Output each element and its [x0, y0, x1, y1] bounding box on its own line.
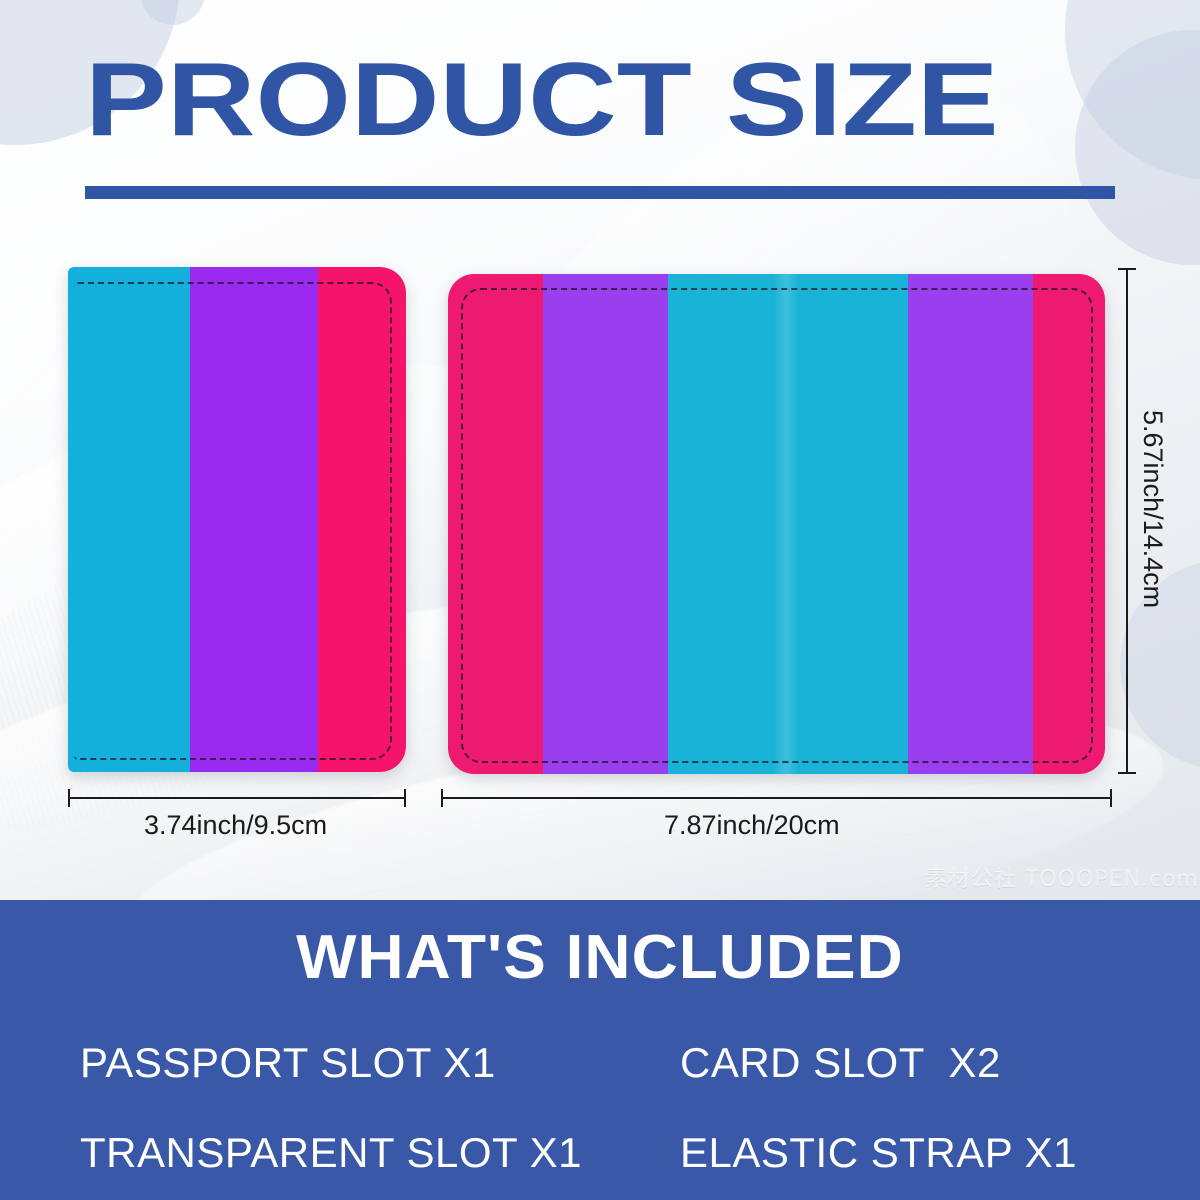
included-item-passport-slot: PASSPORT SLOT X1 — [0, 1039, 640, 1087]
title-underline — [85, 186, 1115, 199]
product-size-section: PRODUCT SIZE 5.67inch/14.4cm 3.74inch/9.… — [0, 0, 1200, 900]
watermark: 素材公社 TOOOPEN.com — [925, 861, 1199, 893]
stripe-purple-right — [908, 274, 1033, 774]
product-image-folded — [68, 267, 406, 772]
included-row: TRANSPARENT SLOT X1 ELASTIC STRAP X1 — [0, 1108, 1200, 1198]
product-image-open — [448, 274, 1105, 774]
height-dim-label: 5.67inch/14.4cm — [1137, 410, 1168, 608]
stripe-cyan-center — [668, 274, 908, 774]
stripe-purple — [190, 267, 318, 772]
open-width-tick-right — [1110, 789, 1112, 807]
open-width-line — [441, 797, 1112, 799]
stripe-purple-left — [543, 274, 668, 774]
included-item-card-slot: CARD SLOT X2 — [640, 1039, 1200, 1087]
stripe-pink — [318, 267, 406, 772]
stripe-pink-right — [1033, 274, 1105, 774]
stripe-pink-left — [448, 274, 543, 774]
height-dim-line — [1126, 268, 1128, 774]
folded-width-label: 3.74inch/9.5cm — [144, 810, 327, 841]
included-row: PASSPORT SLOT X1 CARD SLOT X2 — [0, 1018, 1200, 1108]
included-item-transparent-slot: TRANSPARENT SLOT X1 — [0, 1129, 640, 1177]
included-item-elastic-strap: ELASTIC STRAP X1 — [640, 1129, 1200, 1177]
whats-included-section: WHAT'S INCLUDED PASSPORT SLOT X1 CARD SL… — [0, 900, 1200, 1200]
product-size-infographic: PRODUCT SIZE 5.67inch/14.4cm 3.74inch/9.… — [0, 0, 1200, 1200]
page-title: PRODUCT SIZE — [85, 48, 1200, 152]
stripe-cyan — [68, 267, 190, 772]
folded-width-tick-right — [404, 789, 406, 807]
whats-included-title: WHAT'S INCLUDED — [0, 922, 1200, 993]
folded-width-line — [68, 797, 406, 799]
open-width-label: 7.87inch/20cm — [664, 810, 840, 841]
included-items-grid: PASSPORT SLOT X1 CARD SLOT X2 TRANSPAREN… — [0, 1018, 1200, 1198]
height-dim-tick-bottom — [1118, 772, 1136, 774]
